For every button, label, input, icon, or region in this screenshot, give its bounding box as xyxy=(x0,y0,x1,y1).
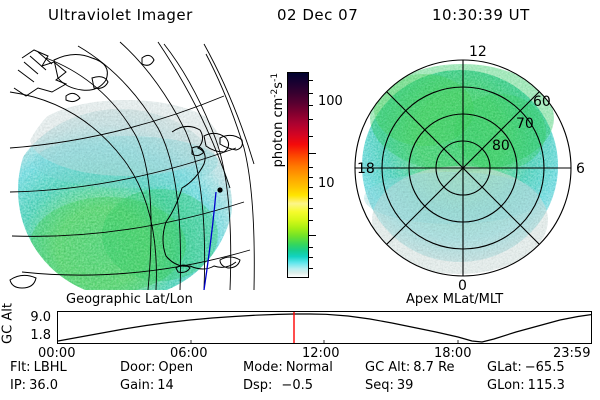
observation-time: 10:30:39 UT xyxy=(432,6,530,24)
status-seq-value: 39 xyxy=(397,378,414,393)
mlt-spokes xyxy=(355,60,571,276)
status-dsp-value: −0.5 xyxy=(281,378,313,393)
status-mode-label: Mode: xyxy=(243,360,283,375)
orbit-y-axis-label: GC Alt xyxy=(1,301,16,347)
status-gc-alt: GC Alt:8.7 Re xyxy=(365,360,455,375)
status-dsp: Dsp:−0.5 xyxy=(243,378,313,393)
orbit-xtick-1800: 18:00 xyxy=(434,346,471,361)
status-dsp-label: Dsp: xyxy=(243,378,272,393)
status-gc-alt-label: GC Alt: xyxy=(365,360,410,375)
colorbar-gradient[interactable] xyxy=(287,72,309,278)
status-mode: Mode:Normal xyxy=(243,360,333,375)
status-bar: Flt:LBHL Door:Open Mode:Normal GC Alt:8.… xyxy=(0,360,600,398)
orbit-xtick-2359: 23:59 xyxy=(553,346,590,361)
orbit-xtick-0600: 06:00 xyxy=(170,346,207,361)
status-glat: GLat:−65.5 xyxy=(487,360,565,375)
status-ip-label: IP: xyxy=(10,378,26,393)
status-glat-value: −65.5 xyxy=(525,360,565,375)
orbit-ytick-min: 1.8 xyxy=(23,328,51,343)
orbit-tick-marks xyxy=(191,340,458,343)
colorbar-legend: photon cm-2s-1 100 10 xyxy=(262,62,332,287)
status-seq-label: Seq: xyxy=(365,378,394,393)
colorbar-axis-title: photon cm-2s-1 xyxy=(270,55,286,185)
status-gain: Gain:14 xyxy=(120,378,174,393)
mlat-label-70: 70 xyxy=(516,116,534,132)
status-door-value: Open xyxy=(158,360,193,375)
status-mode-value: Normal xyxy=(286,360,333,375)
orbit-altitude-plot[interactable] xyxy=(57,311,592,344)
apex-polar-panel[interactable]: 12 6 0 18 60 70 80 xyxy=(332,40,594,292)
orbit-xtick-1200: 12:00 xyxy=(302,346,339,361)
mlt-label-12: 12 xyxy=(469,44,487,60)
colorbar-units-exp2: -1 xyxy=(270,73,280,82)
colorbar-tick-marks xyxy=(309,72,317,278)
subsatellite-point-marker xyxy=(217,187,222,192)
status-row-bottom: IP:36.0 Gain:14 Dsp:−0.5 Seq:39 GLon:115… xyxy=(0,378,600,395)
status-gc-alt-value: 8.7 Re xyxy=(413,360,454,375)
status-glon-value: 115.3 xyxy=(528,378,565,393)
orbit-altitude-curve xyxy=(58,314,591,342)
colorbar-units-mid: s xyxy=(271,82,286,89)
observation-date: 02 Dec 07 xyxy=(277,6,358,24)
colorbar-units-main: photon cm xyxy=(271,98,286,168)
status-gain-value: 14 xyxy=(157,378,174,393)
status-door-label: Door: xyxy=(120,360,155,375)
status-glat-label: GLat: xyxy=(487,360,522,375)
status-ip-value: 36.0 xyxy=(29,378,58,393)
mlat-label-80: 80 xyxy=(492,138,510,154)
status-flt-label: Flt: xyxy=(10,360,31,375)
geographic-panel-caption: Geographic Lat/Lon xyxy=(66,292,193,307)
instrument-title: Ultraviolet Imager xyxy=(48,6,193,24)
status-glon-label: GLon: xyxy=(487,378,525,393)
mlt-label-6: 6 xyxy=(576,161,585,177)
header-bar: Ultraviolet Imager 02 Dec 07 10:30:39 UT xyxy=(0,4,600,28)
mlt-label-0: 0 xyxy=(458,278,467,292)
status-door: Door:Open xyxy=(120,360,193,375)
mlat-label-60: 60 xyxy=(533,94,551,110)
apex-panel-caption: Apex MLat/MLT xyxy=(406,292,503,307)
status-seq: Seq:39 xyxy=(365,378,413,393)
mlt-label-18: 18 xyxy=(357,161,375,177)
colorbar-units-exp1: -2 xyxy=(270,89,280,98)
orbit-curve-svg xyxy=(58,312,591,343)
status-ip: IP:36.0 xyxy=(10,378,58,393)
status-row-top: Flt:LBHL Door:Open Mode:Normal GC Alt:8.… xyxy=(0,360,600,377)
orbit-ytick-max: 9.0 xyxy=(23,310,51,325)
status-gain-label: Gain: xyxy=(120,378,154,393)
apex-polar-plot: 12 6 0 18 60 70 80 xyxy=(332,40,594,292)
aurora-emission-apex xyxy=(362,64,558,274)
geographic-image-panel[interactable] xyxy=(8,40,266,290)
geographic-plot xyxy=(8,40,266,290)
orbit-xtick-0000: 00:00 xyxy=(38,346,75,361)
aurora-emission-geographic xyxy=(8,100,232,290)
status-flt: Flt:LBHL xyxy=(10,360,67,375)
status-glon: GLon:115.3 xyxy=(487,378,565,393)
orbit-altitude-strip: GC Alt 9.0 1.8 00:00 06:00 12:00 18:00 2… xyxy=(0,306,600,352)
status-flt-value: LBHL xyxy=(34,360,67,375)
